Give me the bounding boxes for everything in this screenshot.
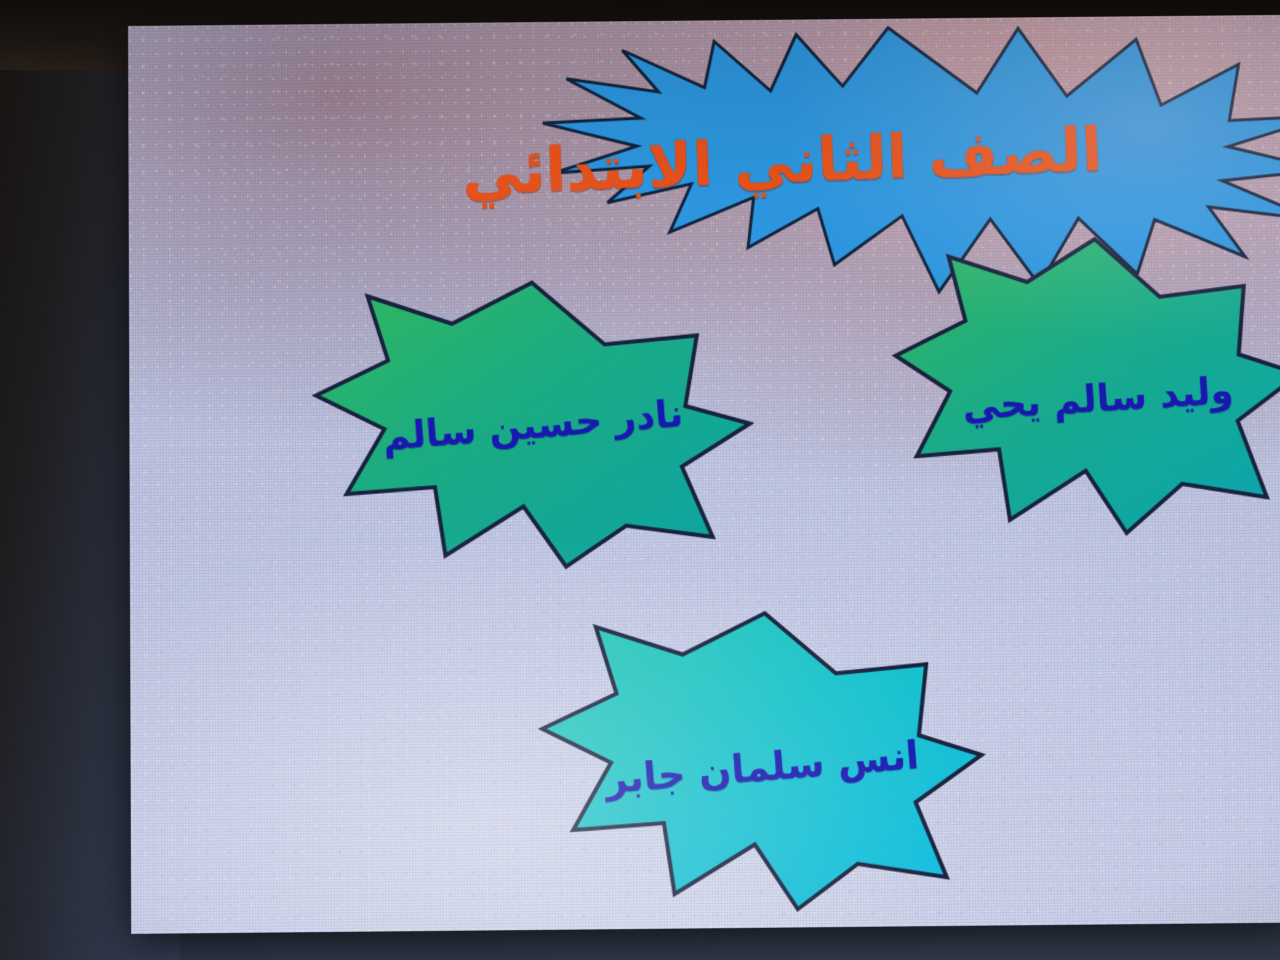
eight-point-star-icon bbox=[311, 277, 755, 573]
slide-canvas: الصف الثاني الابتدائي نادر ح bbox=[128, 15, 1280, 934]
name-star-waleed[interactable]: وليد سالم يحي bbox=[890, 233, 1280, 539]
name-star-anas[interactable]: انس سلمان جابر bbox=[537, 607, 988, 916]
slide-background: الصف الثاني الابتدائي نادر ح bbox=[128, 15, 1280, 934]
eight-point-star-icon bbox=[537, 607, 988, 916]
eight-point-star-icon bbox=[890, 233, 1280, 539]
name-star-nader[interactable]: نادر حسين سالم bbox=[311, 277, 755, 573]
monitor-photo: الصف الثاني الابتدائي نادر ح bbox=[0, 0, 1280, 960]
